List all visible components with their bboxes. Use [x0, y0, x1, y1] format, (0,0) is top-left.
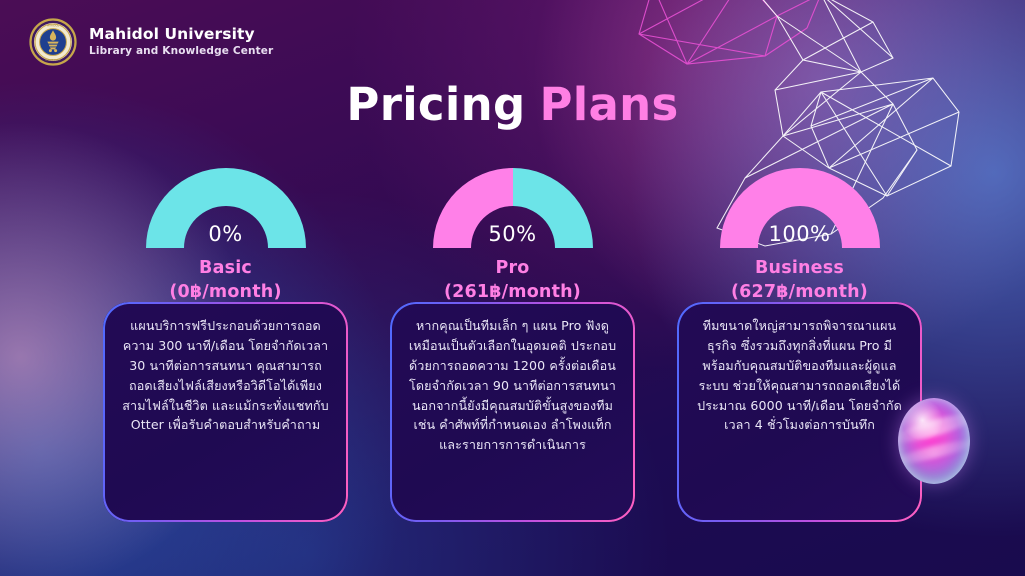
plan-price-business: (627฿/month) — [731, 282, 868, 302]
plan-card-basic[interactable]: แผนบริการฟรีประกอบด้วยการถอดความ 300 นาท… — [103, 302, 348, 522]
plan-card-business[interactable]: ทีมขนาดใหญ่สามารถพิจารณาแผนธุรกิจ ซึ่งรว… — [677, 302, 922, 522]
gauge-percent-pro: 50% — [433, 222, 593, 246]
brand-name: Mahidol University — [89, 26, 273, 43]
plan-price-basic: (0฿/month) — [169, 282, 281, 302]
plan-price-pro: (261฿/month) — [444, 282, 581, 302]
plan-name-basic: Basic — [199, 258, 252, 278]
plan-name-business: Business — [755, 258, 844, 278]
plan-cards-row: แผนบริการฟรีประกอบด้วยการถอดความ 300 นาท… — [0, 302, 1025, 522]
plan-name-pro: Pro — [495, 258, 529, 278]
plan-description-pro: หากคุณเป็นทีมเล็ก ๆ แผน Pro ฟังดูเหมือนเ… — [390, 302, 635, 465]
plan-column-pro: 50% Pro (261฿/month) — [390, 168, 635, 302]
gauge-business: 100% — [720, 168, 880, 248]
title-word-plans: Plans — [539, 78, 678, 131]
sphere-rim — [898, 398, 970, 484]
brand-subtitle: Library and Knowledge Center — [89, 46, 273, 58]
gauge-percent-business: 100% — [720, 222, 880, 246]
page-title: PricingPlans — [0, 78, 1025, 131]
plan-card-pro[interactable]: หากคุณเป็นทีมเล็ก ๆ แผน Pro ฟังดูเหมือนเ… — [390, 302, 635, 522]
slide-canvas: MAHIDOL UNIVERSITY Mahidol University Li… — [0, 0, 1025, 576]
plan-description-business: ทีมขนาดใหญ่สามารถพิจารณาแผนธุรกิจ ซึ่งรว… — [677, 302, 922, 445]
svg-text:UNIVERSITY: UNIVERSITY — [45, 58, 61, 62]
gauge-percent-basic: 0% — [146, 222, 306, 246]
svg-text:MAHIDOL: MAHIDOL — [47, 23, 60, 27]
plan-description-basic: แผนบริการฟรีประกอบด้วยการถอดความ 300 นาท… — [103, 302, 348, 445]
plan-column-business: 100% Business (627฿/month) — [677, 168, 922, 302]
gauge-basic: 0% — [146, 168, 306, 248]
brand-logo: MAHIDOL UNIVERSITY Mahidol University Li… — [28, 17, 273, 67]
plan-column-basic: 0% Basic (0฿/month) — [103, 168, 348, 302]
title-word-pricing: Pricing — [346, 78, 525, 131]
gauge-pro: 50% — [433, 168, 593, 248]
iridescent-sphere-icon — [898, 398, 970, 484]
mahidol-seal-icon: MAHIDOL UNIVERSITY — [28, 17, 78, 67]
plan-gauges-row: 0% Basic (0฿/month) 50% Pro (261฿/month) — [0, 168, 1025, 302]
